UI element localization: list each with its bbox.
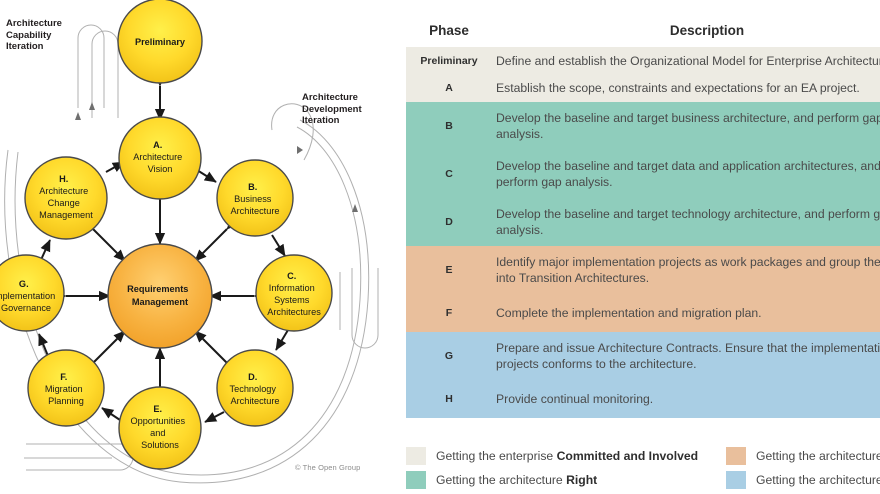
legend-swatch	[726, 447, 746, 465]
node-preliminary[interactable]: Preliminary	[118, 0, 202, 83]
cell-phase: F	[406, 307, 492, 319]
node-phase-f[interactable]: F. Migration Planning	[28, 350, 104, 426]
table-body: PreliminaryDefine and establish the Orga…	[406, 47, 880, 418]
column-header-description: Description	[492, 23, 880, 38]
node-phase-d[interactable]: D. Technology Architecture	[217, 350, 293, 426]
cell-phase: A	[406, 82, 492, 94]
table-group-green: BDevelop the baseline and target busines…	[406, 102, 880, 246]
phase-description-table: Phase Description PreliminaryDefine and …	[406, 0, 880, 494]
table-row[interactable]: DDevelop the baseline and target technol…	[406, 198, 880, 246]
legend-label: Getting the architecture Right	[436, 473, 597, 487]
legend: Getting the enterprise Committed and Inv…	[406, 447, 880, 494]
cell-description: Develop the baseline and target technolo…	[492, 206, 880, 238]
node-phase-g[interactable]: G. Implementation Governance	[0, 255, 64, 331]
cell-phase: Preliminary	[406, 55, 492, 67]
cell-phase: B	[406, 120, 492, 132]
legend-item: Getting the enterprise Committed and Inv…	[406, 447, 698, 465]
cell-description: Provide continual monitoring.	[492, 391, 880, 407]
architecture-capability-iteration-label: Architecture Capability Iteration	[6, 18, 62, 53]
togaf-adm-screenshot: Preliminary A. Architecture Vision B. Bu…	[0, 0, 880, 494]
cell-description: Develop the baseline and target data and…	[492, 158, 880, 190]
legend-swatch	[726, 471, 746, 489]
table-row[interactable]: GPrepare and issue Architecture Contract…	[406, 332, 880, 380]
column-header-phase: Phase	[406, 23, 492, 38]
node-requirements-management-label: Requirements Management	[127, 279, 193, 307]
legend-item: Getting the architecture Right	[406, 471, 597, 489]
legend-item: Getting the architecture Used	[726, 471, 880, 489]
legend-swatch	[406, 471, 426, 489]
node-preliminary-label: Preliminary	[135, 37, 186, 47]
cell-description: Identify major implementation projects a…	[492, 254, 880, 286]
copyright-notice: © The Open Group	[295, 463, 360, 472]
cell-description: Develop the baseline and target business…	[492, 110, 880, 142]
table-header-row: Phase Description	[406, 18, 880, 48]
legend-label: Getting the architecture Working	[756, 449, 880, 463]
table-group-blue: GPrepare and issue Architecture Contract…	[406, 332, 880, 418]
table-row[interactable]: FComplete the implementation and migrati…	[406, 294, 880, 332]
architecture-development-iteration-label: Architecture Development Iteration	[302, 92, 362, 127]
table-row[interactable]: BDevelop the baseline and target busines…	[406, 102, 880, 150]
cell-description: Define and establish the Organizational …	[492, 53, 880, 69]
adm-cycle-graphic: Preliminary A. Architecture Vision B. Bu…	[0, 0, 400, 494]
cell-phase: D	[406, 216, 492, 228]
adm-diagram-panel: Preliminary A. Architecture Vision B. Bu…	[0, 0, 400, 494]
node-phase-h[interactable]: H. Architecture Change Management	[25, 157, 107, 239]
cell-phase: G	[406, 350, 492, 362]
node-requirements-management[interactable]: Requirements Management	[108, 244, 212, 348]
node-phase-c[interactable]: C. Information Systems Architectures	[256, 255, 332, 331]
cell-phase: C	[406, 168, 492, 180]
table-group-peach: EIdentify major implementation projects …	[406, 246, 880, 332]
legend-label: Getting the enterprise Committed and Inv…	[436, 449, 698, 463]
table-group-cream: PreliminaryDefine and establish the Orga…	[406, 47, 880, 102]
cell-description: Prepare and issue Architecture Contracts…	[492, 340, 880, 372]
cell-description: Complete the implementation and migratio…	[492, 305, 880, 321]
legend-label: Getting the architecture Used	[756, 473, 880, 487]
cell-phase: H	[406, 393, 492, 405]
table-row[interactable]: PreliminaryDefine and establish the Orga…	[406, 47, 880, 74]
node-phase-a[interactable]: A. Architecture Vision	[119, 117, 201, 199]
legend-swatch	[406, 447, 426, 465]
cell-phase: E	[406, 264, 492, 276]
node-phase-e[interactable]: E. Opportunities and Solutions	[119, 387, 201, 469]
table-row[interactable]: HProvide continual monitoring.	[406, 380, 880, 418]
table-row[interactable]: EIdentify major implementation projects …	[406, 246, 880, 294]
node-phase-b[interactable]: B. Business Architecture	[217, 160, 293, 236]
table-row[interactable]: CDevelop the baseline and target data an…	[406, 150, 880, 198]
table-row[interactable]: AEstablish the scope, constraints and ex…	[406, 74, 880, 102]
cell-description: Establish the scope, constraints and exp…	[492, 80, 880, 96]
legend-item: Getting the architecture Working	[726, 447, 880, 465]
